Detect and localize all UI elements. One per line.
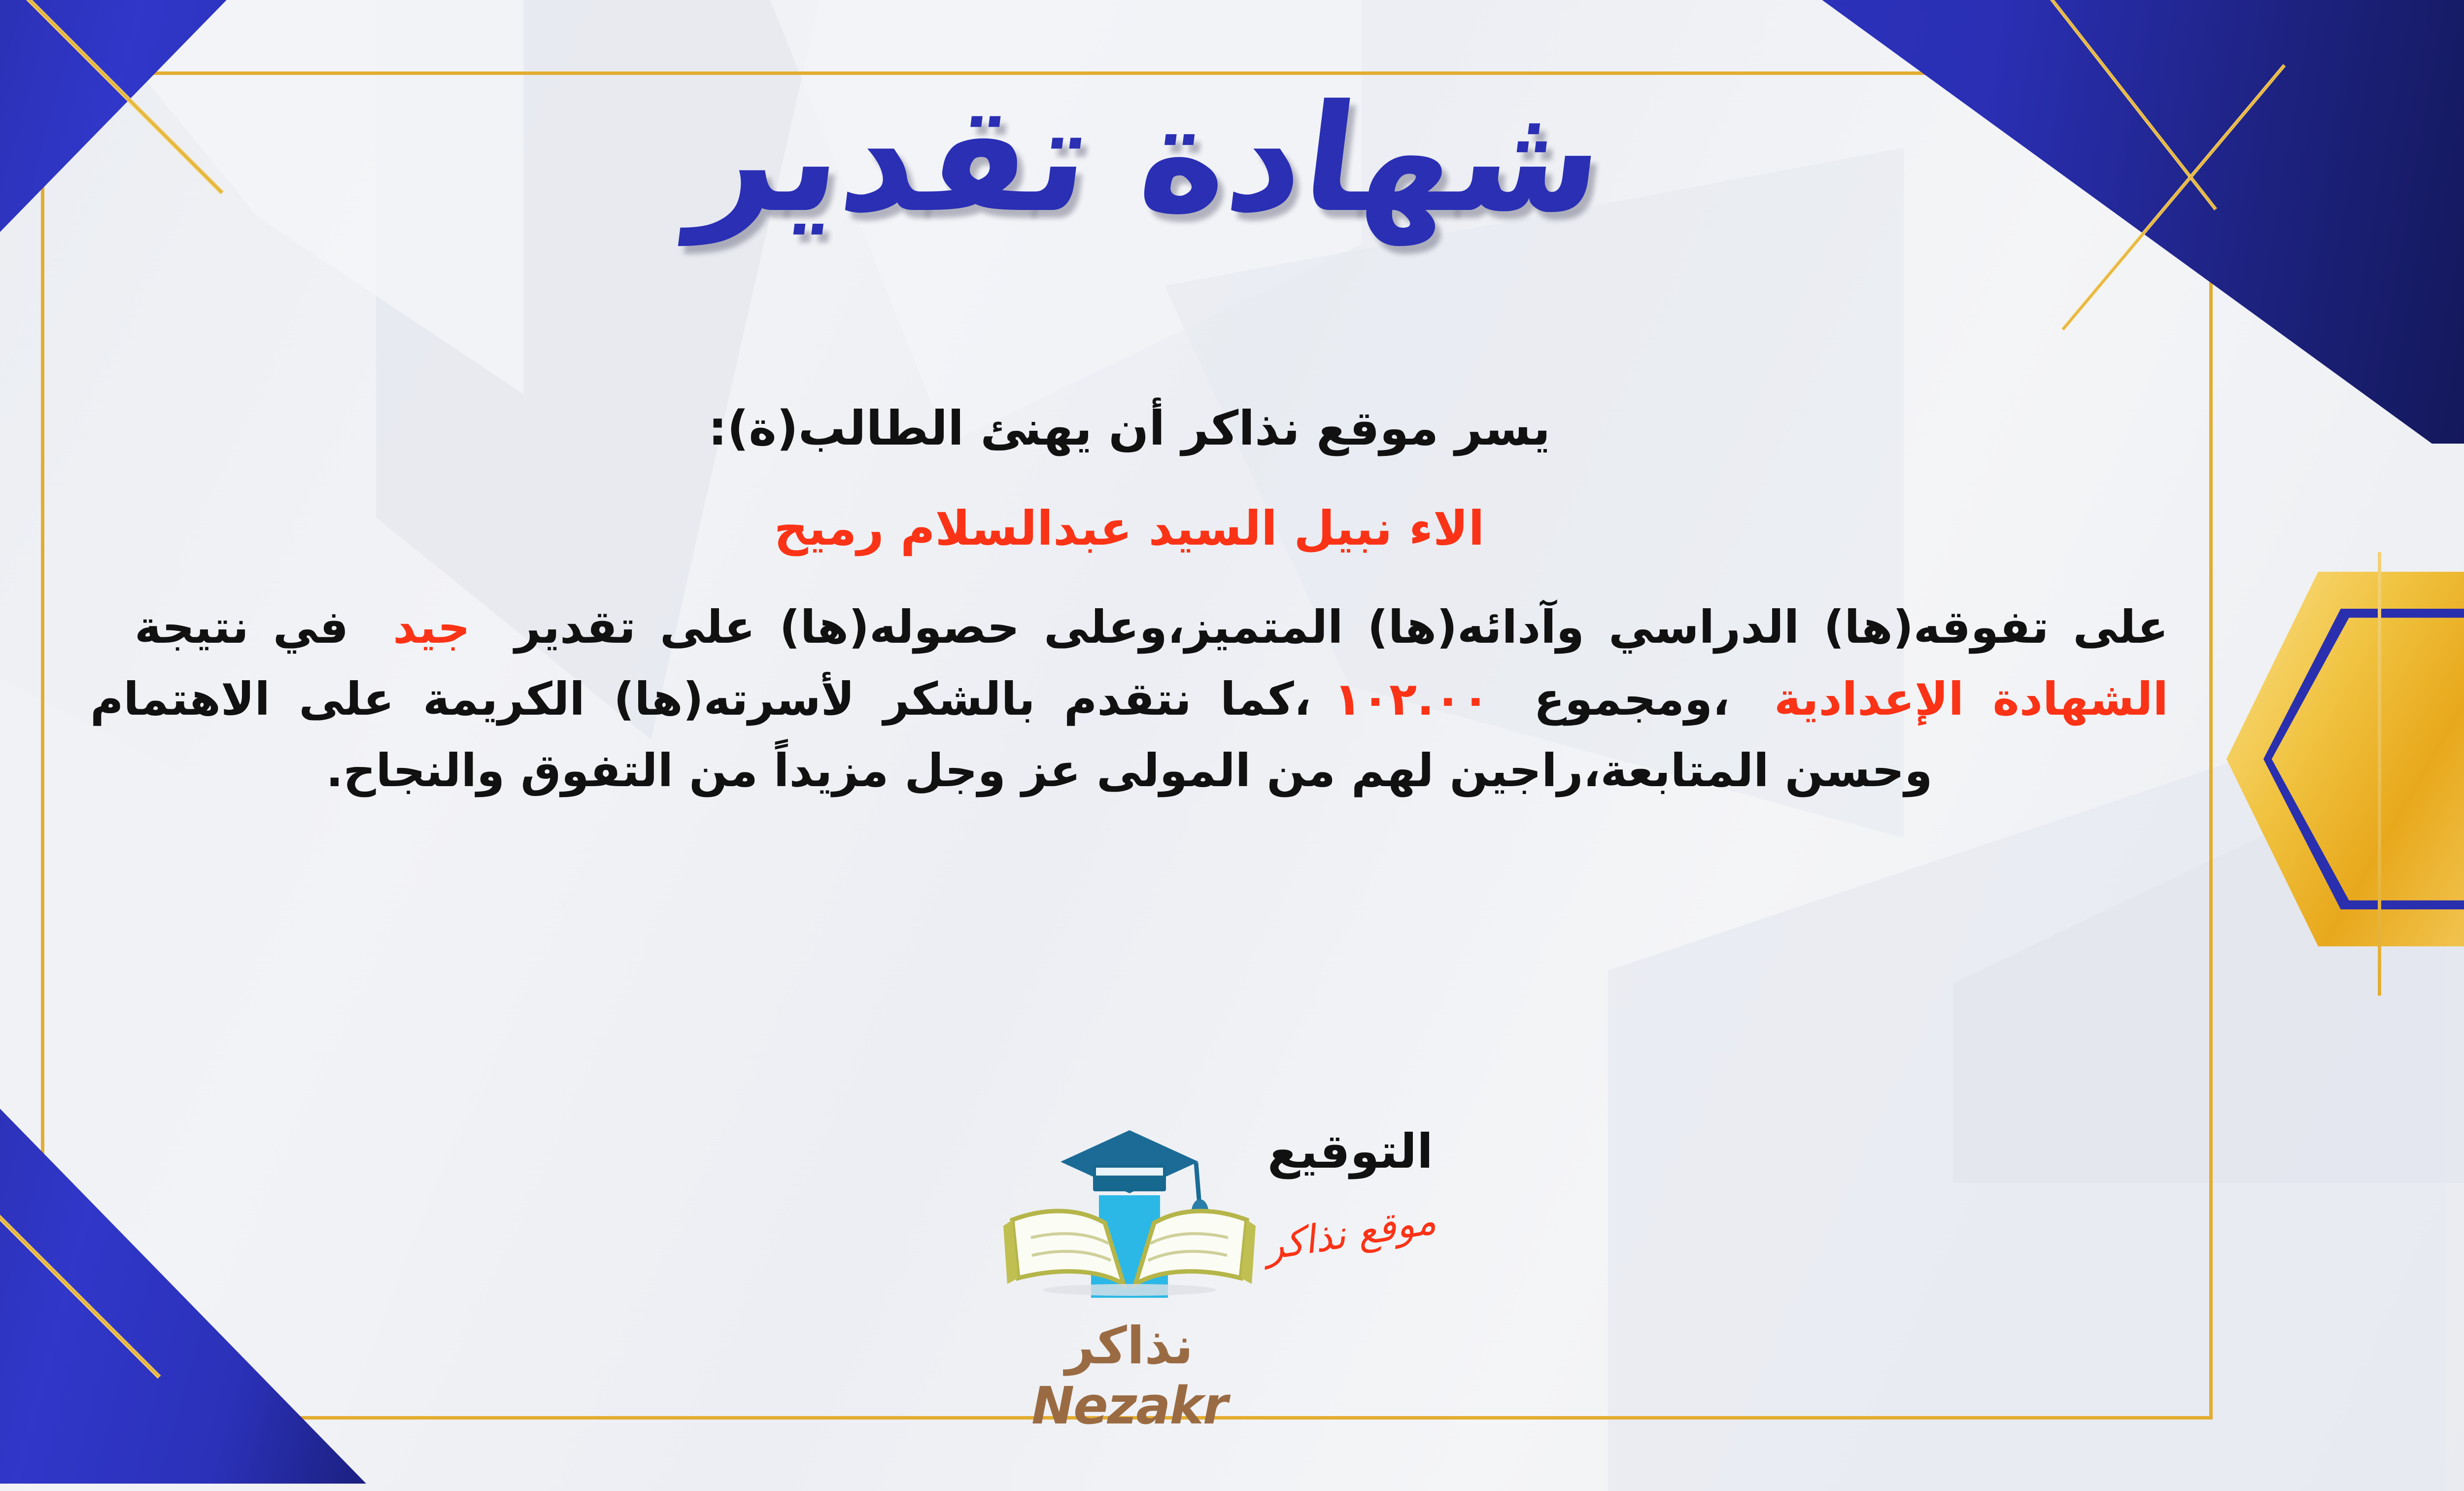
title-container: شهادة تقدير [0,81,2464,237]
citation-segment-3: ،ومجموع [1534,673,1730,726]
logo-name-latin: Nezakr [1031,1376,1227,1436]
logo-name-arabic: نذاكر [1065,1316,1194,1376]
certificate-body: يسر موقع نذاكر أن يهنئ الطالب(ة): الاء ن… [90,394,2168,806]
signature-mark: موقع نذاكر [1262,1198,1439,1269]
citation-segment-1: على تفوقه(ها) الدراسي وآدائه(ها) المتميز… [514,601,2168,654]
exam-name: الشهادة الإعدادية [1774,673,2168,726]
logo-wordmark: نذاكرNezakr [972,1316,1287,1436]
gold-vertical-accent-line [2378,552,2381,996]
intro-line: يسر موقع نذاكر أن يهنئ الطالب(ة): [90,394,2168,463]
certificate-page: شهادة تقدير يسر موقع نذاكر أن يهنئ الطال… [0,0,2464,1491]
certificate-footer: التوقيع موقع نذاكر [90,1124,2168,1439]
site-logo: نذاكرNezakr [972,1121,1287,1436]
student-name: الاء نبيل السيد عبدالسلام رميح [90,494,2168,563]
citation-paragraph: على تفوقه(ها) الدراسي وآدائه(ها) المتميز… [90,591,2168,806]
citation-segment-2: في نتيجة [135,601,348,654]
grade-value: جيد [393,601,470,654]
total-score: ١٠٢.٠٠ [1334,673,1490,726]
page-title: شهادة تقدير [685,81,1612,237]
graduate-book-icon [1001,1121,1258,1314]
